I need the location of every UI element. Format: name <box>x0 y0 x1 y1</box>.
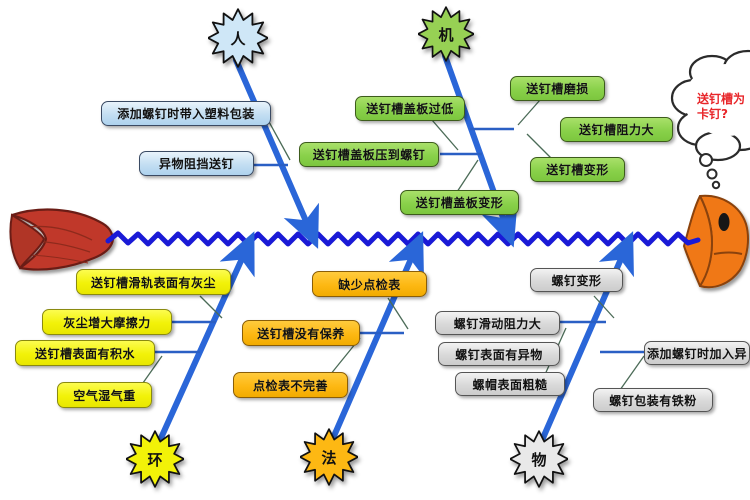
category-star-huan[interactable]: 环 <box>126 430 184 488</box>
cause-box-wu-2[interactable]: 螺钉滑动阻力大 <box>435 311 560 335</box>
cause-box-wu-6[interactable]: 螺钉包装有铁粉 <box>593 388 713 412</box>
leader-fa-1 <box>388 298 408 329</box>
category-star-ji[interactable]: 机 <box>418 6 474 62</box>
cause-box-huan-4[interactable]: 空气湿气重 <box>57 382 152 408</box>
cause-box-ji-6[interactable]: 送钉槽变形 <box>530 157 625 182</box>
cause-box-ji-4[interactable]: 送钉槽磨损 <box>510 76 605 101</box>
cause-box-huan-3[interactable]: 送钉槽表面有积水 <box>15 340 155 366</box>
category-star-fa[interactable]: 法 <box>300 428 358 486</box>
fishbone-spine <box>108 233 698 244</box>
cause-box-huan-1[interactable]: 送钉槽滑轨表面有灰尘 <box>76 269 231 295</box>
cause-box-wu-1[interactable]: 螺钉变形 <box>530 268 623 292</box>
cause-box-fa-3[interactable]: 点检表不完善 <box>233 372 348 398</box>
cause-box-huan-2[interactable]: 灰尘增大摩擦力 <box>42 309 172 335</box>
leader-wu-6 <box>620 356 644 390</box>
leader-ji-4 <box>518 100 540 125</box>
fishbone-diagram: 送钉槽为 卡钉? 人 机 环 法 物 添加螺钉时带入塑料包装 异物阻挡送钉 <box>0 0 750 500</box>
category-star-wu-label: 物 <box>531 449 546 470</box>
diagram-vector-layer <box>0 0 750 500</box>
cause-box-ji-1[interactable]: 送钉槽盖板过低 <box>355 96 465 121</box>
cause-box-fa-1[interactable]: 缺少点检表 <box>312 271 427 297</box>
cause-box-wu-4[interactable]: 螺帽表面粗糙 <box>455 372 565 396</box>
bone-ren <box>236 60 309 228</box>
category-star-huan-label: 环 <box>147 449 162 470</box>
fish-tail-icon <box>10 210 113 270</box>
cause-box-wu-3[interactable]: 螺钉表面有异物 <box>438 342 560 366</box>
category-star-wu[interactable]: 物 <box>510 430 568 488</box>
problem-statement-line1: 送钉槽为 <box>697 92 750 107</box>
cause-box-ji-3[interactable]: 送钉槽盖板变形 <box>400 190 519 215</box>
cause-box-fa-2[interactable]: 送钉槽没有保养 <box>242 320 360 346</box>
problem-statement-line2: 卡钉? <box>697 107 750 122</box>
category-star-fa-label: 法 <box>321 447 336 468</box>
cause-box-ren-1[interactable]: 添加螺钉时带入塑料包装 <box>101 101 271 126</box>
category-star-ren-label: 人 <box>230 28 245 49</box>
category-star-ren[interactable]: 人 <box>208 8 268 68</box>
cause-box-ji-5[interactable]: 送钉槽阻力大 <box>560 117 673 142</box>
cause-box-ji-2[interactable]: 送钉槽盖板压到螺钉 <box>299 142 439 167</box>
cause-box-ren-2[interactable]: 异物阻挡送钉 <box>139 151 254 176</box>
cause-box-wu-5[interactable]: 添加螺钉时加入异 <box>644 341 750 365</box>
category-star-ji-label: 机 <box>438 24 453 45</box>
